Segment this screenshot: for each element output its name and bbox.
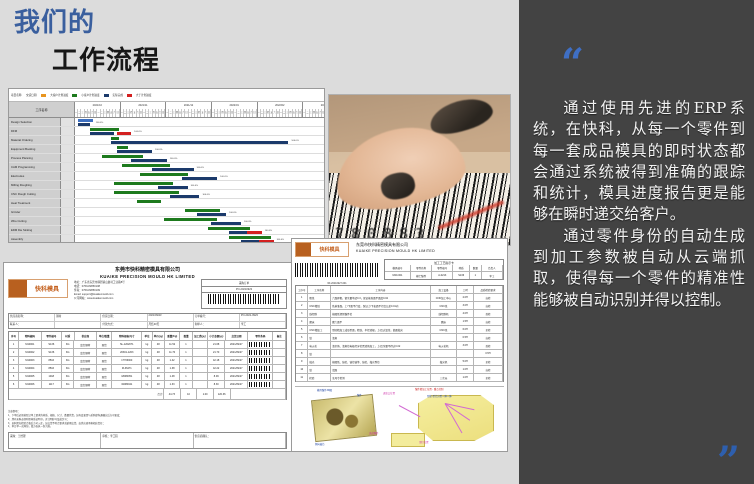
gantt-task-row: Equipment Booking100.0% (9, 145, 324, 154)
po-cell-2-15 (273, 357, 286, 364)
po-cell-1-13: 2021/09/27 (225, 349, 248, 356)
po-cell-5-7: kg (142, 381, 152, 388)
photo-barcode-scanner-device (426, 94, 496, 139)
wi-table-row: 9抛光按图纸、镜位、镜位镜等、镜位、抛光到位抛光机5.0H全检 (296, 358, 503, 366)
po-cell-1-15 (273, 349, 286, 356)
po-cell-0-7: kg (142, 341, 152, 348)
gantt-task-label-0: Design Selection (9, 118, 61, 126)
legend-swatch-orange (41, 94, 46, 97)
gantt-bar-planned (229, 236, 271, 239)
po-col-header-14: 零件条码 (248, 332, 273, 340)
legend-swatch-green (72, 94, 77, 97)
gantt-day-tick: 日 (322, 109, 325, 117)
po-row-barcode (249, 342, 271, 347)
po-total-label: 合计: (9, 389, 164, 399)
wi-cell-4-2: 型腔精加工成形型面，精铣、半径清根，上/边过渡位，曲面抛光 (331, 326, 430, 333)
wi-cell-10-1: 检验 (308, 374, 331, 381)
po-cell-3-6: M-36471 (112, 365, 142, 372)
wi-header: 东莞市快科精密模具有限公司 KUAIKE PRECISION MOULD HK … (356, 242, 435, 253)
po-cell-0-15 (273, 341, 286, 348)
wi-summary-cell-1-5: 李工 (482, 272, 503, 279)
po-col-header-7: 单位 (142, 332, 152, 340)
po-cell-4-10: 1 (180, 373, 193, 380)
po-cell-2-14 (248, 357, 273, 364)
po-cell-5-14 (248, 381, 273, 388)
po-cell-2-3: KG (62, 357, 75, 364)
gantt-task-row: Assembly100.0% (9, 235, 324, 243)
po-cell-1-6: 20301-1203 (112, 349, 142, 356)
legend-swatch-red (127, 94, 132, 97)
gantt-task-track: 100.0% (75, 145, 324, 153)
po-cell-2-6: 17706000 (112, 357, 142, 364)
wi-cell-8-5: 全检 (474, 358, 503, 365)
wi-summary-cell-0-3: 材质 (453, 265, 470, 271)
wi-cell-6-2: 清余角、清角位电极打穿位置清角加工，上/边余量不得过0.02 (331, 342, 430, 349)
po-cell-0-6: SL-1202071 (112, 341, 142, 348)
wi-cell-7-5: 0.5H (474, 350, 503, 357)
po-cell-2-2: 8516 (42, 357, 62, 364)
gantt-bar-note: 100.0% (229, 212, 236, 214)
wi-company-name-cn: 东莞市快科精密模具有限公司 (356, 242, 435, 248)
wi-table-row: 4磨床磨六面平磨床1.5H自检 (296, 318, 503, 326)
wi-cell-2-0: 3 (296, 310, 308, 317)
wi-cell-7-3 (431, 350, 458, 357)
wi-cell-7-4 (457, 350, 474, 357)
po-cell-5-11 (193, 381, 208, 388)
po-cell-2-1: M10003 (19, 357, 42, 364)
wi-cell-0-3: CNC加工中心 (431, 294, 458, 301)
wi-table-row: 7电火花清余角、清角位电极打穿位置清角加工，上/边余量不得过0.02电火花机3.… (296, 342, 503, 350)
po-cell-5-2: 1117 (42, 381, 62, 388)
po-row-barcode (249, 382, 271, 387)
gantt-day-block-1: 一二三四五六日一二三四五六日 (121, 109, 167, 117)
wi-cell-3-4: 1.5H (457, 318, 474, 325)
po-cell-3-15 (273, 365, 286, 372)
gantt-task-label-5: CAM Programming (9, 163, 61, 171)
gantt-task-track: 100.0% (75, 136, 324, 144)
gantt-task-label-6: Electrodes (9, 172, 61, 180)
po-row-barcode (249, 366, 271, 371)
gantt-task-label-4: Process Planning (9, 154, 61, 162)
legend-label-2: 实际完成 (113, 93, 123, 97)
po-row-barcode (249, 350, 271, 355)
po-sign-left: 采购：王经理 (9, 433, 101, 448)
wi-summary-cell-1-4: 1 (470, 272, 482, 279)
wi-cell-4-4: 6.0H (457, 326, 474, 333)
po-total-value-1: 10 (181, 389, 198, 399)
wi-summary-cell-0-5: 负责人 (482, 265, 503, 271)
gantt-bar-note: 100.0% (96, 122, 103, 124)
gantt-day-tick: 日 (208, 109, 211, 117)
gantt-chart-document: 项目名称: 交货日期: 大客户计划进度 小客户计划进度 实际完成 大于计划进度 … (8, 88, 325, 243)
gantt-task-row: Heat Treatment (9, 199, 324, 208)
po-signature-block: 采购：王经理 审核：李工程 供应商确认： (8, 432, 287, 449)
po-cell-3-7: kg (142, 365, 152, 372)
gantt-task-meta (61, 145, 75, 153)
po-col-header-6: 物料规格/尺寸 (112, 332, 142, 340)
po-cell-5-4: 富力钢材 (74, 381, 97, 388)
po-total-pad (231, 389, 286, 399)
po-cell-0-11 (193, 341, 208, 348)
wi-table-row: 5CNC精加工型腔精加工成形型面，精铣、半径清根，上/边过渡位，曲面抛光CNC铣… (296, 326, 503, 334)
gantt-task-row: Milling Roughing100.0% (9, 181, 324, 190)
gantt-month-2: 2021/12 (166, 102, 212, 109)
gantt-task-label-11: Wire Cutting (9, 217, 61, 225)
wi-cell-8-0: 9 (296, 358, 308, 365)
po-cell-5-15 (273, 381, 286, 388)
po-total-value-0: 44.73 (164, 389, 181, 399)
gantt-task-track: 100.0% (75, 172, 324, 180)
wi-cell-9-4: 1.0H (457, 366, 474, 373)
po-cell-1-10: 1 (180, 349, 193, 356)
wi-summary-cell-0-4: 数量 (470, 265, 482, 271)
po-cell-3-3: KG (62, 365, 75, 372)
po-table-row: 2M10002S136KG富力钢材现货20301-1203kg4811.7012… (9, 349, 286, 357)
cad-label-0: 模具镶件3D图 (317, 388, 332, 392)
po-info-block: 供应商名称：钢材供货日期：2021/09/23订单编号：PO-2021-0923… (8, 313, 287, 329)
wi-table-row: 1粗铣六面开粗，留余量单边0.3，保证基准面平面度0.02CNC加工中心2.0H… (296, 294, 503, 302)
wi-cell-3-0: 4 (296, 318, 308, 325)
gantt-task-track: 100.0% (75, 118, 324, 126)
po-sign-right: 供应商确认： (194, 433, 286, 448)
wi-cell-1-4: 3.0H (457, 302, 474, 309)
gantt-bar-planned (137, 200, 161, 203)
po-cell-2-0: 3 (9, 357, 19, 364)
po-cell-1-9: 11.70 (165, 349, 180, 356)
wi-cell-6-1: 电火花 (308, 342, 331, 349)
po-cell-5-8: 48 (152, 381, 165, 388)
gantt-bar-note: 100.0% (277, 239, 284, 241)
quote-body: 通过使用先进的ERP系统，在快科，从每一个零件到每一套成品模具的即时状态都会通过… (533, 98, 745, 311)
cad-label-7: 顶针位置 (419, 440, 429, 444)
cad-label-6: 侧向抽芯 (315, 442, 325, 446)
po-cell-5-5: 现货 (97, 381, 112, 388)
gantt-month-0: 2021/10 (75, 102, 121, 109)
wi-table-row: 10钳试配1.0H自检 (296, 366, 503, 374)
po-col-header-13: 交货日期 (226, 332, 249, 340)
po-info-cell-1-0: 联系人： (9, 322, 55, 329)
work-instruction-document: 快科模具 东莞市快科精密模具有限公司 KUAIKE PRECISION MOUL… (291, 238, 508, 452)
gantt-bar-actual (152, 168, 194, 171)
gantt-bar-planned (114, 182, 173, 185)
gantt-bar-actual (182, 177, 218, 180)
po-cell-1-8: 48 (152, 349, 165, 356)
po-cell-2-9: 1.42 (165, 357, 180, 364)
wi-cell-2-4: 4.0H (457, 310, 474, 317)
gantt-task-track: 100.0% (75, 127, 324, 135)
po-cell-3-0: 4 (9, 365, 19, 372)
po-contact-line-4: 公司网站：www.kuaikemould.com (74, 297, 125, 301)
po-order-barcode (208, 294, 280, 304)
gantt-task-label-12: EDM Die Sinking (9, 226, 61, 234)
po-cell-0-1: M10001 (19, 341, 42, 348)
gantt-bar-actual (158, 186, 188, 189)
gantt-task-track: 100.0% (75, 154, 324, 162)
wi-summary-cell-0-1: 零件名称 (411, 265, 432, 271)
po-info-cell-0-1: 钢材 (55, 314, 101, 321)
po-table-row: 6M100061117KG富力钢材现货32080041kg481.3318.30… (9, 381, 286, 389)
gantt-task-meta (61, 136, 75, 144)
gantt-task-meta (61, 199, 75, 207)
gantt-task-meta (61, 172, 75, 180)
po-cell-0-12: 21.68 (208, 341, 226, 348)
gantt-task-track: 100.0% (75, 217, 324, 225)
quote-panel: “ 通过使用先进的ERP系统，在快科，从每一个零件到每一套成品模具的即时状态都会… (519, 0, 754, 484)
gantt-task-row: Material Ordering100.0% (9, 136, 324, 145)
quote-paragraph-1: 通过使用先进的ERP系统，在快科，从每一个零件到每一套成品模具的即时状态都会通过… (533, 98, 745, 226)
wi-cell-6-0: 7 (296, 342, 308, 349)
po-info-cell-1-1 (55, 322, 101, 329)
gantt-task-meta (61, 118, 75, 126)
wi-barcode-block: WI-20210927-001 (295, 263, 379, 281)
wi-cell-6-3: 电火花机 (431, 342, 458, 349)
po-cell-4-11 (193, 373, 208, 380)
po-cell-4-14 (248, 373, 273, 380)
po-total-value-3: 120.36 (214, 389, 231, 399)
po-cell-2-10: 1 (180, 357, 193, 364)
wi-cell-9-1: 钳 (308, 366, 331, 373)
wi-cell-10-3: 三次元 (431, 374, 458, 381)
wi-col-header-3: 加工设备 (431, 286, 458, 293)
wi-cell-1-0: 2 (296, 302, 308, 309)
wi-cell-10-5: 全检 (474, 374, 503, 381)
po-cell-1-7: kg (142, 349, 152, 356)
gantt-task-label-1: DFM (9, 127, 61, 135)
gantt-meta-project: 项目名称: (11, 93, 22, 97)
po-logo-text: 快科模具 (27, 284, 67, 293)
gantt-bar-planned (185, 209, 221, 212)
po-cell-4-9: 1.48 (165, 373, 180, 380)
po-cell-1-4: 富力钢材 (74, 349, 97, 356)
gantt-bar-actual (131, 159, 167, 162)
cad-model-core (418, 395, 494, 441)
wi-col-header-4: 工时 (457, 286, 474, 293)
po-cell-2-13: 2021/09/27 (225, 357, 248, 364)
po-info-cell-1-5: 李工 (240, 322, 286, 329)
gantt-bar-note: 100.0% (155, 149, 162, 151)
po-cell-3-11 (193, 365, 208, 372)
po-cell-4-3: KG (62, 373, 75, 380)
po-cell-0-13: 2021/09/27 (225, 341, 248, 348)
po-col-header-4: 供应商 (75, 332, 98, 340)
wi-table-row: 6钳清角0.5H自检 (296, 334, 503, 342)
gantt-bar-planned (102, 155, 144, 158)
gantt-task-track: 100.0% (75, 208, 324, 216)
wi-cell-2-5: 首检 (474, 310, 503, 317)
gantt-bar-planned (117, 146, 129, 149)
wi-table-row: 3线切割按图纸切割镶件位线切割机4.0H首检 (296, 310, 503, 318)
gantt-bar-actual (211, 222, 241, 225)
logo-mark-icon (9, 280, 27, 297)
po-cell-3-1: M10004 (19, 365, 42, 372)
gantt-bar-actual (117, 150, 153, 153)
wi-cell-5-2: 清角 (331, 334, 430, 341)
gantt-task-meta (61, 190, 75, 198)
wi-cell-10-2: 全尺寸检测 (331, 374, 430, 381)
gantt-task-label-3: Equipment Booking (9, 145, 61, 153)
gantt-day-row: 一二三四五六日一二三四五六日一二三四五六日一二三四五六日一二三四五六日一二三四五… (75, 109, 325, 117)
gantt-task-row: Design Selection100.0% (9, 118, 324, 127)
po-notes-block: 注意事项：1、下单后必须按照订单上要求的材质、规格、尺寸、数量供货，如有变更需与… (8, 410, 287, 429)
wi-col-header-0: 工序号 (296, 286, 308, 293)
po-col-header-15: 备注 (273, 332, 286, 340)
wi-table-row: 11检验全尺寸检测三次元1.0H全检 (296, 374, 503, 382)
po-cell-1-0: 2 (9, 349, 19, 356)
gantt-task-track: 100.0% (75, 181, 324, 189)
gantt-day-tick: 日 (299, 109, 302, 117)
gantt-day-tick: 日 (162, 109, 165, 117)
wi-cell-1-2: 铣基准面，上/下面平行度，保证上/下表面平行度公差0.01内 (331, 302, 430, 309)
gantt-bar-planned (114, 191, 179, 194)
po-header: 东莞市快科精密模具有限公司 KUAIKE PRECISION MOULD HK … (4, 263, 291, 279)
po-info-row: 联系人：付款方式：月结30天制单人：李工 (9, 322, 286, 329)
wi-logo-text: 快科模具 (311, 246, 348, 253)
quote-open-mark: “ (561, 44, 584, 84)
po-cell-4-7: kg (142, 373, 152, 380)
po-info-cell-1-4: 制单人： (194, 322, 240, 329)
gantt-task-row: CAM Programming100.0% (9, 163, 324, 172)
po-cell-4-13: 2021/09/27 (225, 373, 248, 380)
gantt-day-block-3: 一二三四五六日一二三四五六日 (212, 109, 258, 117)
gantt-bar-overdue (259, 240, 274, 243)
gantt-bar-note: 100.0% (244, 221, 251, 223)
po-row-barcode (249, 374, 271, 379)
po-cell-4-5: 现货 (97, 373, 112, 380)
gantt-task-track: 100.0% (75, 235, 324, 243)
wi-process-table: 工序号工序名称工序内容加工设备工时品质检验要求1粗铣六面开粗，留余量单边0.3，… (295, 285, 504, 382)
gantt-bar-actual (78, 123, 90, 126)
wi-summary-cell-1-3: S136 (453, 272, 470, 279)
wi-table-header-row: 工序号工序名称工序内容加工设备工时品质检验要求 (296, 286, 503, 294)
slide-root: 我们的 工作流程 项目名称: 交货日期: 大客户计划进度 小客户计划进度 实际完… (0, 0, 754, 484)
po-cell-4-15 (273, 373, 286, 380)
po-cell-3-14 (248, 365, 273, 372)
po-cell-3-10: 1 (180, 365, 193, 372)
wi-summary-cell-1-0: M20-001 (385, 272, 411, 279)
gantt-month-row: 2021/102021/112021/122022/012022/022022/… (75, 102, 325, 109)
page-title-secondary: 工作流程 (52, 40, 160, 77)
wi-cell-3-5: 自检 (474, 318, 503, 325)
po-cell-2-11 (193, 357, 208, 364)
gantt-task-label-13: Assembly (9, 235, 61, 243)
po-info-cell-0-5: PO-2021-0923 (240, 314, 286, 321)
po-cell-3-9: 1.38 (165, 365, 180, 372)
gantt-task-col-header: 工序名称 (9, 102, 75, 117)
po-info-row: 供应商名称：钢材供货日期：2021/09/23订单编号：PO-2021-0923 (9, 314, 286, 322)
wi-company-logo: 快科模具 (295, 242, 349, 257)
gantt-bar-note: 100.0% (265, 230, 272, 232)
po-contact-block: 地址：广东省东莞市横沥镇山厦村工业路8号电话：0769-82850108传真：0… (74, 281, 125, 300)
po-cell-4-0: 5 (9, 373, 19, 380)
legend-label-1: 小客户计划进度 (81, 93, 99, 97)
gantt-bar-note: 100.0% (197, 167, 204, 169)
po-info-cell-0-2: 供货日期： (101, 314, 147, 321)
wi-cell-0-2: 六面开粗，留余量单边0.3，保证基准面平面度0.02 (331, 294, 430, 301)
wi-cell-7-1: 钳 (308, 350, 331, 357)
gantt-bar-overdue (117, 132, 132, 135)
wi-cell-4-1: CNC精加工 (308, 326, 331, 333)
quote-paragraph-2: 通过零件身份的自动生成到加工参数被自动从云端抓取，使得每一个零件的精准性能够被自… (533, 226, 745, 311)
gantt-bar-note: 100.0% (202, 194, 209, 196)
wi-cell-8-1: 抛光 (308, 358, 331, 365)
legend-swatch-navy (104, 94, 109, 97)
gantt-task-meta (61, 235, 75, 243)
po-cell-1-5: 现货 (97, 349, 112, 356)
po-col-header-1: 物料编码 (19, 332, 42, 340)
po-cell-0-3: KG (62, 341, 75, 348)
wi-cell-4-0: 5 (296, 326, 308, 333)
wi-table-row: 8钳 0.5H (296, 350, 503, 358)
gantt-task-track: 100.0% (75, 163, 324, 171)
gantt-day-tick: 日 (253, 109, 256, 117)
gantt-bar-actual (170, 195, 200, 198)
wi-cell-9-2: 试配 (331, 366, 430, 373)
po-items-table: 序号物料编码零件编号材质供应商单位/数量物料规格/尺寸单位单价(元)重量(Kg)… (8, 331, 287, 400)
po-cell-0-2: S136 (42, 341, 62, 348)
po-cell-1-14 (248, 349, 273, 356)
po-col-header-0: 序号 (9, 332, 19, 340)
gantt-task-meta (61, 163, 75, 171)
po-cell-3-8: 48 (152, 365, 165, 372)
wi-cell-8-4: 5.0H (457, 358, 474, 365)
wi-cell-2-1: 线切割 (308, 310, 331, 317)
wi-cell-5-3 (431, 334, 458, 341)
po-info-cell-0-4: 订单编号： (194, 314, 240, 321)
barcode-scanning-photo: 780883 (328, 94, 511, 246)
wi-cell-6-5: 首检 (474, 342, 503, 349)
gantt-task-row: CNC Rough Cutting100.0% (9, 190, 324, 199)
po-cell-2-4: 富力钢材 (74, 357, 97, 364)
po-row-barcode (249, 358, 271, 363)
po-col-header-5: 单位/数量 (97, 332, 112, 340)
gantt-task-meta (61, 127, 75, 135)
po-cell-3-12: 42.22 (208, 365, 226, 372)
wi-cell-6-4: 3.0H (457, 342, 474, 349)
po-info-cell-0-3: 2021/09/23 (148, 314, 194, 321)
gantt-task-row: DFM100.0% (9, 127, 324, 136)
gantt-bar-planned (140, 173, 187, 176)
po-col-header-3: 材质 (62, 332, 75, 340)
wi-cell-2-2: 按图纸切割镶件位 (331, 310, 430, 317)
wi-cell-1-3: CNC铣 (431, 302, 458, 309)
gantt-month-1: 2021/11 (121, 102, 167, 109)
po-cell-0-0: 1 (9, 341, 19, 348)
gantt-bar-planned (122, 164, 169, 167)
wi-summary-table: 模具编号零件名称零件编号材质数量负责人M20-001模仁镶件A-0213S136… (384, 265, 504, 280)
gantt-day-tick: 日 (116, 109, 119, 117)
wi-cell-0-1: 粗铣 (308, 294, 331, 301)
gantt-bar-planned (208, 227, 250, 230)
po-col-header-9: 重量(Kg) (165, 332, 180, 340)
po-cell-0-9: 11.52 (165, 341, 180, 348)
po-cell-5-12: 8.30 (208, 381, 226, 388)
gantt-bar-note: 100.0% (170, 158, 177, 160)
po-cell-3-4: 富力钢材 (74, 365, 97, 372)
gantt-task-label-10: Grinder (9, 208, 61, 216)
gantt-month-3: 2022/01 (212, 102, 258, 109)
po-company-logo: 快科模具 (8, 279, 68, 298)
po-cell-0-10: 1 (180, 341, 193, 348)
purchase-order-document: 东莞市快科精密模具有限公司 KUAIKE PRECISION MOULD HK … (3, 262, 292, 452)
po-note-3: 4、本订单一式两份，双方各执一份为准。 (8, 425, 287, 429)
gantt-task-label-2: Material Ordering (9, 136, 61, 144)
legend-label-3: 大于计划进度 (136, 93, 152, 97)
gantt-task-track: 100.0% (75, 226, 324, 234)
po-table-row: 1M10001S136KG富力钢材现货SL-1202071kg4811.5212… (9, 341, 286, 349)
po-cell-1-1: M10002 (19, 349, 42, 356)
po-cell-5-9: 1.33 (165, 381, 180, 388)
po-cell-1-3: KG (62, 349, 75, 356)
